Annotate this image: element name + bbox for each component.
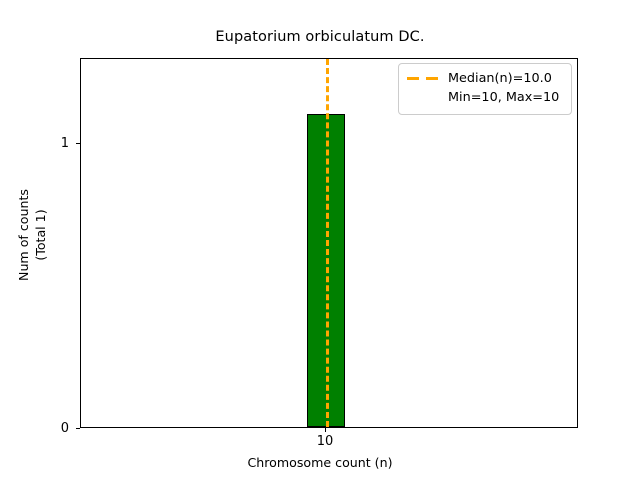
y-tick-label-0: 0: [9, 421, 69, 436]
legend-item-median: Median(n)=10.0 Min=10, Max=10: [407, 70, 563, 107]
chart-title: Eupatorium orbiculatum DC.: [0, 29, 640, 45]
chart-legend: Median(n)=10.0 Min=10, Max=10: [398, 63, 572, 115]
y-tick-label-1: 1: [9, 136, 69, 151]
median-line: [326, 59, 329, 427]
y-tick-mark-0: [76, 428, 80, 429]
chart-figure: Eupatorium orbiculatum DC. Num of counts…: [0, 0, 640, 480]
legend-label-line-2: Min=10, Max=10: [448, 89, 559, 108]
y-axis-label: Num of counts (Total 1): [15, 70, 49, 400]
x-tick-mark-0: [325, 428, 326, 432]
legend-label-line-1: Median(n)=10.0: [448, 70, 559, 89]
x-tick-label-0: 10: [295, 434, 355, 449]
x-axis-label: Chromosome count (n): [0, 455, 640, 470]
dashed-line-icon: [407, 71, 441, 87]
